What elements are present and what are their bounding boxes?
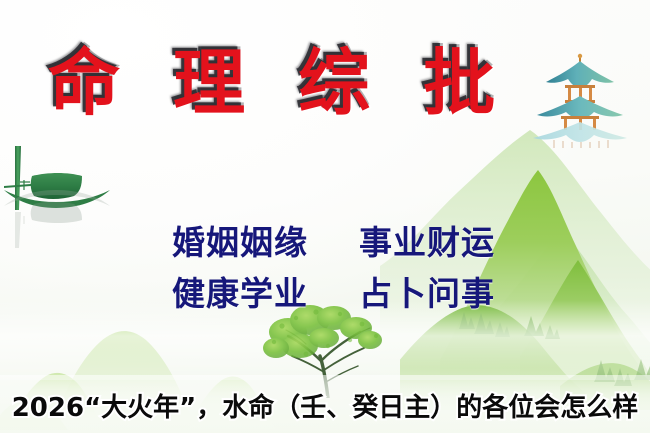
service-divination: 占卜问事	[359, 274, 495, 313]
caption-text: 2026“大火年”，水命（壬、癸日主）的各位会怎么样	[0, 387, 650, 424]
fortune-telling-banner: 命 理 综 批 婚姻姻缘 事业财运 健康学业 占卜问事 2026“大火年”，水命…	[0, 0, 650, 433]
boat-icon	[2, 138, 124, 250]
service-health: 健康学业	[172, 274, 308, 313]
page-title: 命 理 综 批	[48, 47, 509, 119]
service-career: 事业财运	[359, 223, 495, 262]
pagoda-icon	[528, 52, 632, 148]
mountain-range-right	[400, 120, 650, 410]
service-line-1: 婚姻姻缘 事业财运	[172, 216, 495, 264]
service-marriage: 婚姻姻缘	[172, 223, 308, 262]
service-line-2: 健康学业 占卜问事	[172, 267, 495, 315]
